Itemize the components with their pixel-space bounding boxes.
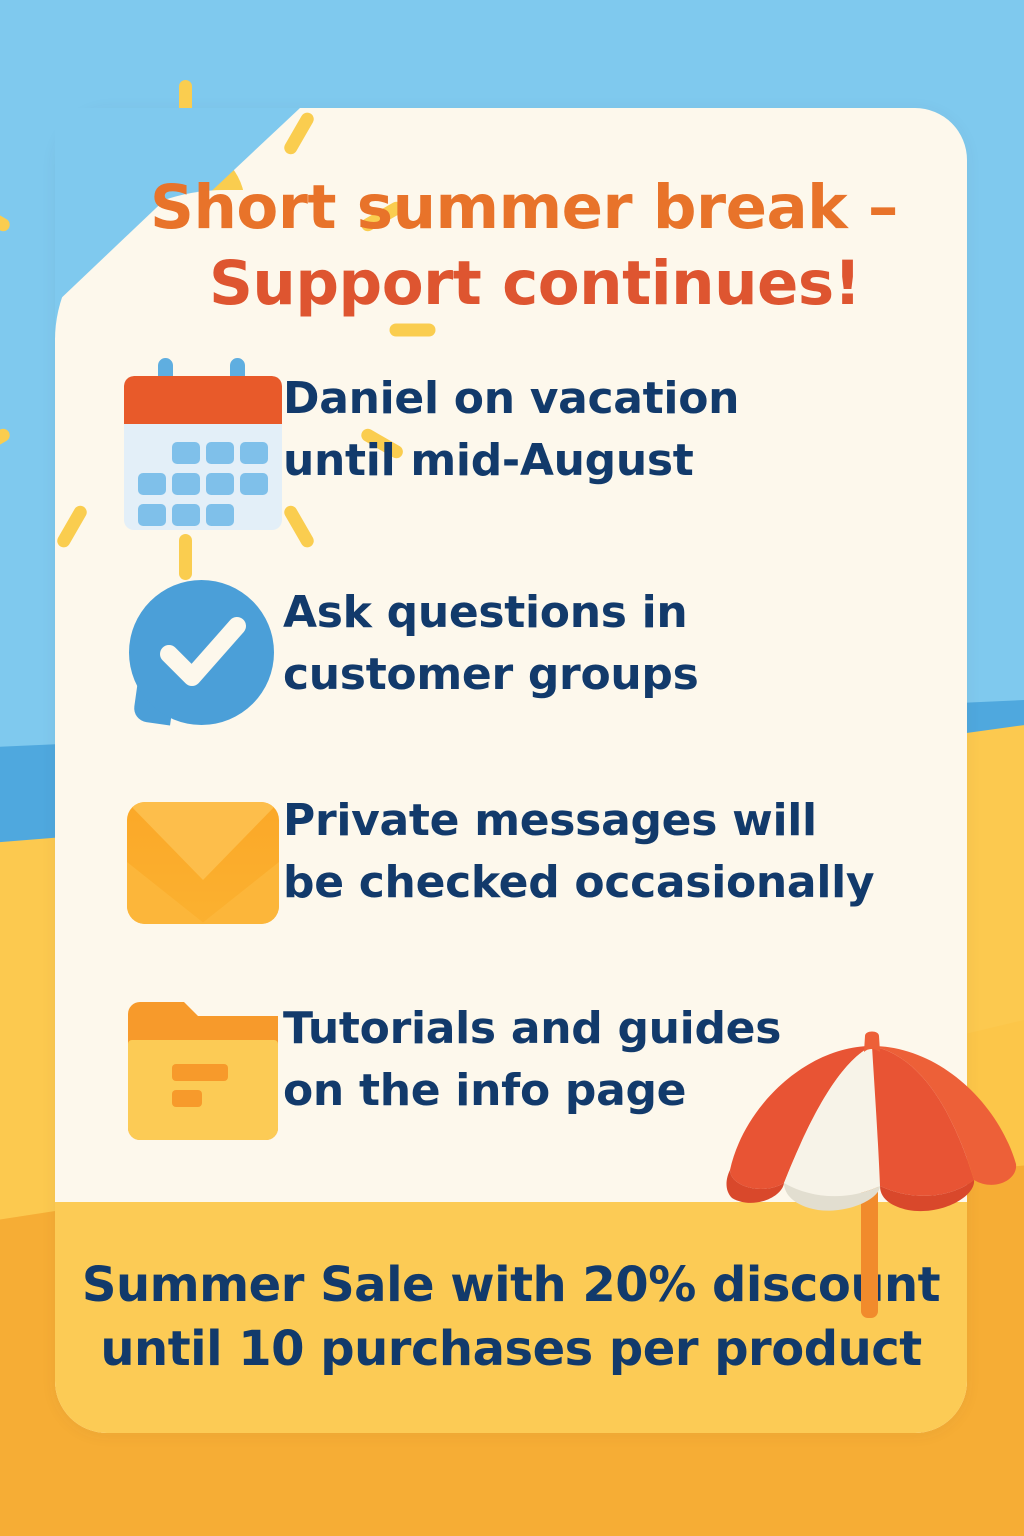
list-item-line-1: Ask questions in — [283, 582, 699, 644]
page-title: Short summer break – Support continues! — [55, 170, 967, 323]
folder-icon — [123, 986, 283, 1156]
title-line-1: Short summer break – — [55, 170, 967, 246]
list-item: Private messages will be checked occasio… — [123, 778, 953, 948]
list-item-line-2: until mid-August — [283, 430, 739, 492]
beach-umbrella-icon — [722, 1028, 1022, 1318]
list-item: Daniel on vacation until mid-August — [123, 356, 953, 532]
summer-break-poster: Short summer break – Support continues! — [0, 0, 1024, 1536]
list-item-text: Tutorials and guides on the info page — [283, 986, 781, 1123]
list-item-text: Daniel on vacation until mid-August — [283, 356, 739, 493]
list-item-text: Private messages will be checked occasio… — [283, 778, 874, 915]
list-item-text: Ask questions in customer groups — [283, 570, 699, 707]
list-item-line-1: Private messages will — [283, 790, 874, 852]
title-line-2: Support continues! — [55, 246, 967, 322]
list-item: Ask questions in customer groups — [123, 570, 953, 740]
calendar-icon — [123, 356, 283, 532]
list-item-line-1: Daniel on vacation — [283, 368, 739, 430]
envelope-icon — [123, 778, 283, 948]
list-item-line-1: Tutorials and guides — [283, 998, 781, 1060]
list-item-line-2: be checked occasionally — [283, 852, 874, 914]
list-item-line-2: customer groups — [283, 644, 699, 706]
list-item-line-2: on the info page — [283, 1060, 781, 1122]
promo-line-2: until 10 purchases per product — [100, 1318, 921, 1381]
check-bubble-icon — [123, 570, 283, 740]
